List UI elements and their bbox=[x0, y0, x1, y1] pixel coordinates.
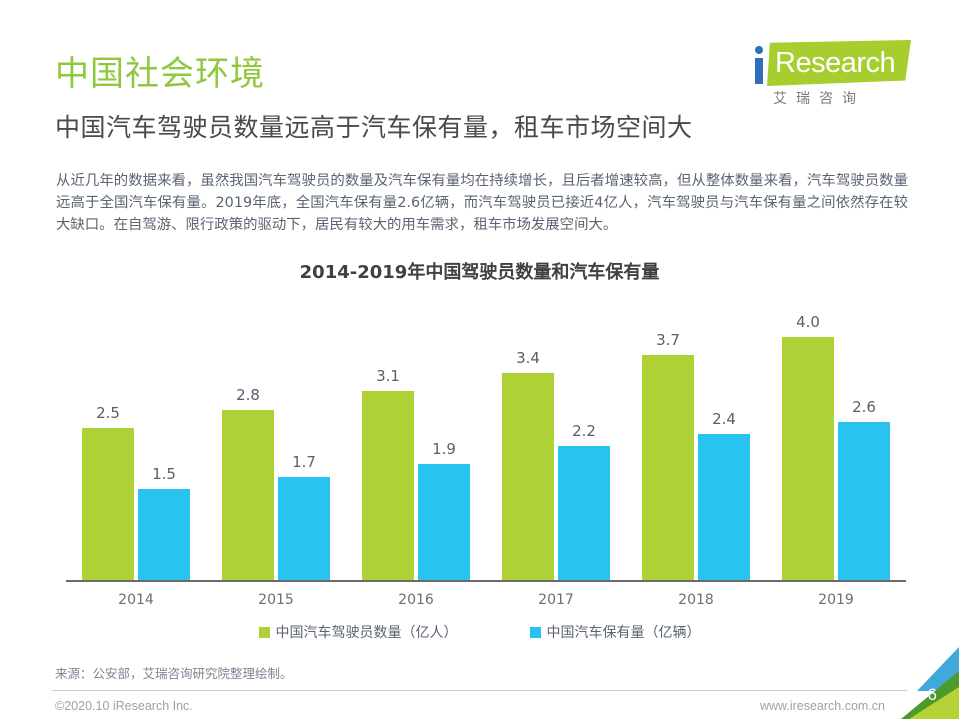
bar-value-label: 1.5 bbox=[134, 465, 194, 483]
bar-value-label: 2.5 bbox=[78, 404, 138, 422]
x-tick-2017: 2017 bbox=[496, 592, 616, 608]
x-tick-2015: 2015 bbox=[216, 592, 336, 608]
bar-2018-series1 bbox=[642, 355, 694, 580]
legend-swatch-icon bbox=[259, 627, 270, 638]
logo-chinese-name: 艾瑞咨询 bbox=[773, 88, 865, 108]
bar-value-label: 3.1 bbox=[358, 367, 418, 385]
page-title: 中国社会环境 bbox=[55, 46, 265, 95]
x-tick-2018: 2018 bbox=[636, 592, 756, 608]
bar-2018-series2 bbox=[698, 434, 750, 580]
copyright-text: ©2020.10 iResearch Inc. bbox=[55, 699, 193, 713]
x-tick-2019: 2019 bbox=[776, 592, 896, 608]
bar-2017-series1 bbox=[502, 373, 554, 580]
bar-value-label: 2.8 bbox=[218, 386, 278, 404]
bar-2015-series2 bbox=[278, 477, 330, 580]
website-url: www.iresearch.com.cn bbox=[760, 699, 885, 713]
logo-wordmark: Research bbox=[775, 47, 895, 80]
legend-label: 中国汽车驾驶员数量（亿人） bbox=[276, 622, 458, 642]
bar-value-label: 2.2 bbox=[554, 422, 614, 440]
x-tick-2016: 2016 bbox=[356, 592, 476, 608]
page-number: 6 bbox=[928, 685, 937, 705]
body-paragraph: 从近几年的数据来看，虽然我国汽车驾驶员的数量及汽车保有量均在持续增长，且后者增速… bbox=[56, 170, 908, 236]
legend-swatch-icon bbox=[530, 627, 541, 638]
chart-legend: 中国汽车驾驶员数量（亿人）中国汽车保有量（亿辆） bbox=[0, 622, 959, 642]
legend-item-2[interactable]: 中国汽车保有量（亿辆） bbox=[530, 622, 701, 642]
bar-2014-series2 bbox=[138, 489, 190, 580]
bar-2019-series2 bbox=[838, 422, 890, 580]
bar-value-label: 3.7 bbox=[638, 331, 698, 349]
bar-2019-series1 bbox=[782, 337, 834, 580]
legend-item-1[interactable]: 中国汽车驾驶员数量（亿人） bbox=[259, 622, 458, 642]
bar-2016-series1 bbox=[362, 391, 414, 580]
bar-2017-series2 bbox=[558, 446, 610, 580]
bar-value-label: 1.7 bbox=[274, 453, 334, 471]
chart-plot: 2.51.52.81.73.11.93.42.23.72.44.02.6 bbox=[66, 300, 906, 580]
bar-2015-series1 bbox=[222, 410, 274, 580]
bar-value-label: 4.0 bbox=[778, 313, 838, 331]
bar-2016-series2 bbox=[418, 464, 470, 580]
logo-mark: Research bbox=[751, 38, 911, 86]
x-axis-line bbox=[66, 580, 906, 582]
page-subtitle: 中国汽车驾驶员数量远高于汽车保有量，租车市场空间大 bbox=[55, 108, 693, 144]
source-note: 来源：公安部，艾瑞咨询研究院整理绘制。 bbox=[55, 663, 293, 682]
bar-value-label: 3.4 bbox=[498, 349, 558, 367]
corner-decoration-icon bbox=[887, 647, 959, 719]
chart-title: 2014-2019年中国驾驶员数量和汽车保有量 bbox=[0, 258, 959, 284]
bar-value-label: 2.4 bbox=[694, 410, 754, 428]
bar-value-label: 2.6 bbox=[834, 398, 894, 416]
bar-value-label: 1.9 bbox=[414, 440, 474, 458]
chart-area: 2.51.52.81.73.11.93.42.23.72.44.02.6 201… bbox=[66, 300, 906, 583]
legend-label: 中国汽车保有量（亿辆） bbox=[547, 622, 701, 642]
bar-2014-series1 bbox=[82, 428, 134, 580]
logo-i-stem-icon bbox=[755, 58, 763, 84]
x-tick-2014: 2014 bbox=[76, 592, 196, 608]
logo-i-dot-icon bbox=[755, 46, 763, 54]
slide: Research 艾瑞咨询 中国社会环境 中国汽车驾驶员数量远高于汽车保有量，租… bbox=[0, 0, 959, 719]
footer-divider bbox=[52, 690, 907, 691]
iresearch-logo: Research 艾瑞咨询 bbox=[751, 38, 911, 110]
